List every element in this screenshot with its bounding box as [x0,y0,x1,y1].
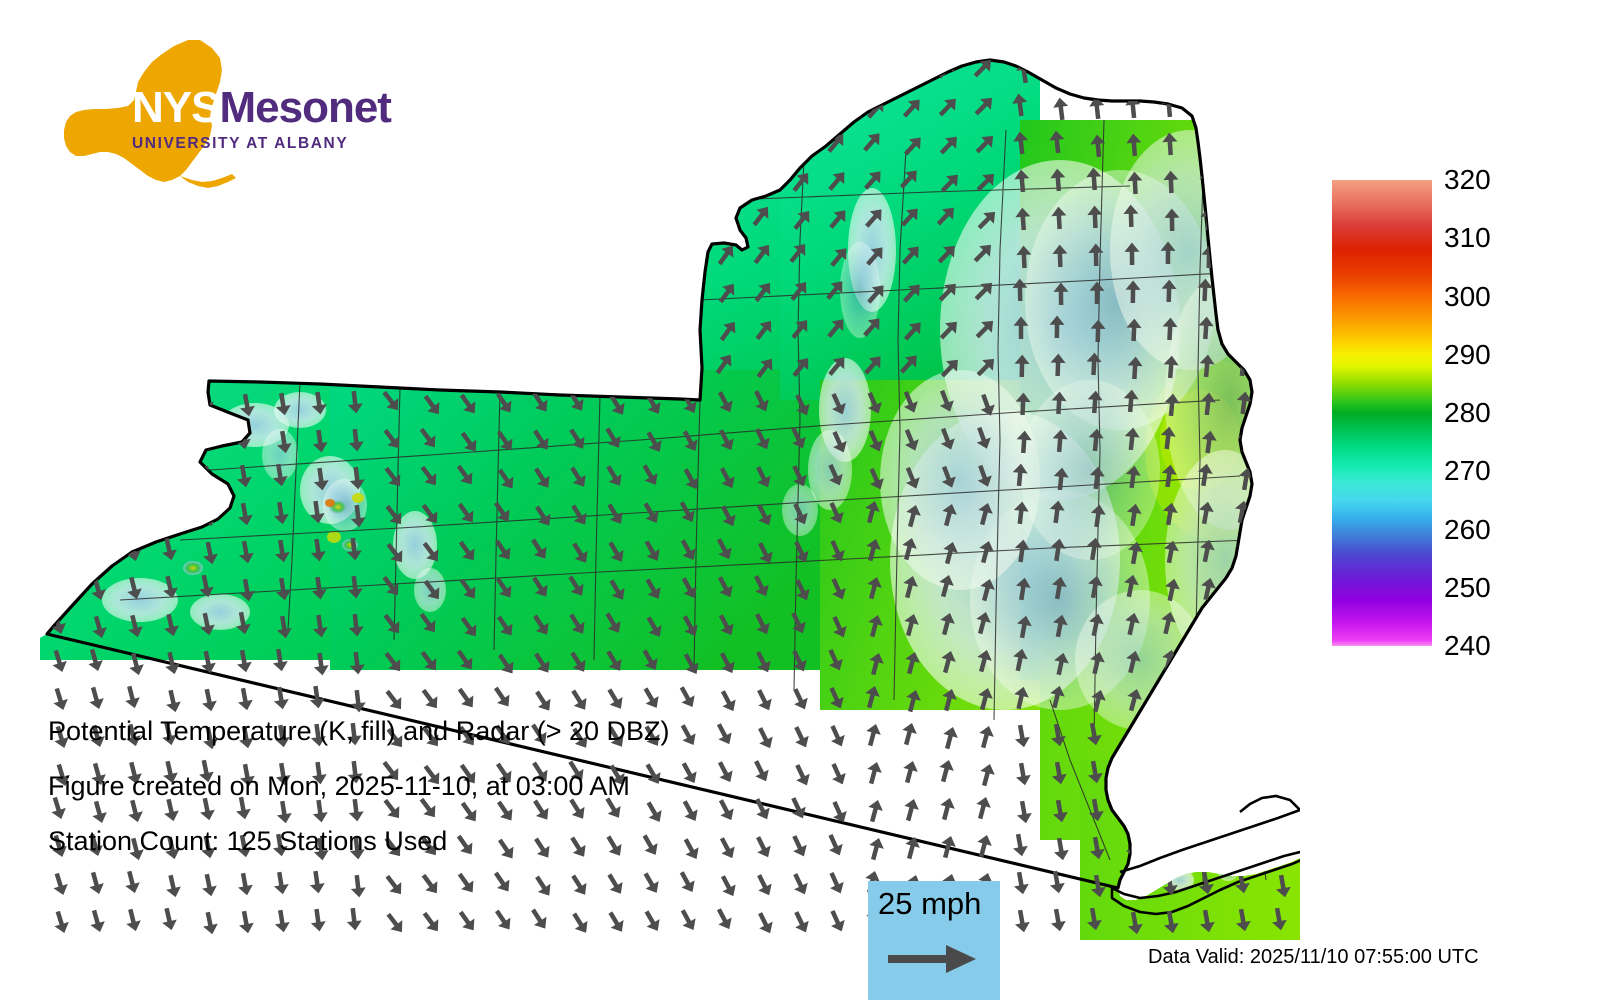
wind-arrow [602,93,626,120]
wind-arrow [1272,428,1290,453]
wind-arrow [196,204,215,229]
wind-arrow [1272,650,1293,676]
wind-arrow [1237,59,1254,83]
wind-arrow [568,355,593,382]
wind-arrow [457,59,482,86]
wind-arrow [124,390,144,415]
wind-speed-key: 25 mph [868,881,1000,1000]
wind-arrow [1237,837,1256,862]
wind-arrow [89,429,109,455]
logo-mesonet-text: Mesonet [219,83,390,132]
wind-arrow [271,278,289,303]
logo-subtitle: UNIVERSITY AT ALBANY [132,135,402,153]
colorbar-tick-labels: 320310300290280270260250240 [1444,180,1554,646]
wind-arrow [312,282,330,306]
wind-arrow [1234,130,1250,153]
wind-arrow [418,169,443,196]
wind-arrow [605,207,629,234]
wind-arrow [676,352,700,379]
wind-arrow [491,352,516,379]
wind-arrow [1269,536,1289,561]
wind-arrow [160,205,180,230]
wind-arrow [491,167,516,194]
wind-arrow [1200,60,1217,84]
wind-arrow [200,356,219,381]
wind-arrow [454,315,479,342]
wind-arrow [1236,206,1251,229]
wind-arrow [565,241,590,268]
wind-arrow [493,243,518,270]
wind-arrow [274,207,292,232]
wind-arrow [1123,797,1142,822]
wind-arrow [238,208,257,233]
wind-arrow [604,169,628,196]
wind-arrow [456,206,481,233]
wind-arrow [160,390,180,415]
wind-arrow [52,392,73,418]
wind-arrow [642,244,666,271]
wind-arrow [89,244,109,270]
wind-arrow [1270,352,1287,376]
wind-arrow [493,58,518,85]
colorbar-tick-280: 280 [1444,399,1491,427]
wind-arrow [566,279,591,306]
wind-arrow [1234,315,1251,339]
wind-arrow [50,316,71,342]
wind-arrow [85,462,105,488]
caption-title: Potential Temperature (K, fill) and Rada… [48,718,868,745]
wind-arrow [898,56,924,83]
colorbar-tick-250: 250 [1444,574,1491,602]
wind-arrow [603,131,627,158]
wind-arrow [455,168,480,195]
wind-arrow [1199,614,1219,639]
colorbar-tick-240: 240 [1444,632,1491,660]
colorbar-gradient [1332,180,1432,646]
wind-arrow [712,203,737,230]
wind-arrow [679,281,703,308]
colorbar-tick-260: 260 [1444,516,1491,544]
wind-arrow [675,129,699,156]
wind-arrow [1275,134,1291,157]
wind-arrow [236,317,255,342]
wind-arrow [1274,281,1290,304]
wind-arrow [455,353,480,380]
wind-arrow [529,57,554,84]
wind-arrow [348,281,365,305]
wind-arrow [275,245,293,270]
wind-arrow [1234,723,1253,748]
wind-arrow [379,241,405,268]
wind-arrow [52,577,73,603]
wind-arrow [1234,575,1254,600]
wind-arrow [531,133,556,160]
wind-arrow [349,319,366,343]
wind-arrow [679,96,703,123]
wind-arrow [529,242,554,269]
wind-arrow [750,93,776,120]
wind-arrow [751,131,777,158]
wind-arrow [1271,168,1286,190]
wind-arrow [48,425,69,451]
wind-arrow [48,240,69,266]
colorbar-tick-320: 320 [1444,166,1491,194]
wind-arrow [1275,319,1292,343]
wind-arrow [677,205,701,232]
wind-arrow [453,92,478,119]
wind-arrow [416,278,441,305]
wind-arrow [381,317,407,344]
wind-arrow [714,94,739,121]
wind-arrow [52,207,73,233]
wind-arrow [88,206,108,232]
wind-arrow [308,315,326,339]
wind-arrow [161,428,181,453]
wind-arrow [126,466,146,491]
wind-arrow [86,500,106,526]
wind-arrow [382,355,408,382]
caption-station-count: Station Count: 125 Stations Used [48,828,868,855]
wind-arrow [567,317,592,344]
wind-arrow [415,240,440,267]
wind-arrow [453,277,478,304]
wind-arrow [347,243,364,267]
wind-arrow [419,207,444,234]
wind-arrow [1123,57,1141,81]
wind-arrow [1271,612,1291,638]
wind-arrow [566,94,591,121]
wind-arrow [122,499,142,524]
wind-arrow [527,166,552,193]
wind-arrow [787,130,813,157]
wind-arrow [345,352,362,376]
wind-arrow [273,354,291,379]
wind-arrow [1087,58,1105,82]
data-valid-timestamp: Data Valid: 2025/11/10 07:55:00 UTC [1148,946,1479,969]
wind-arrow [639,130,663,157]
wind-arrow [311,244,329,268]
wind-arrow [1159,56,1176,80]
wind-arrow [310,206,328,230]
wind-arrow [418,354,443,381]
wind-arrow [530,95,555,122]
wind-arrow [124,205,144,230]
wind-arrow [162,281,182,306]
wind-arrow [822,91,848,118]
wind-arrow [749,55,775,82]
wind-arrow [785,54,811,81]
wind-arrow [126,281,146,306]
wind-arrow [1235,761,1254,786]
wind-arrow [638,92,662,119]
wind-arrow [415,55,440,82]
wind-arrow [346,205,363,229]
wind-arrow [125,428,145,453]
wind-arrow [678,58,702,85]
wind-arrow [122,314,142,339]
wind-arrow [237,355,256,380]
logo-nys-text: NYS [132,83,219,132]
wind-arrow [88,391,108,417]
wind-arrow [1238,97,1254,120]
wind-arrow [527,351,552,378]
wind-arrow [604,354,628,381]
wind-arrow [531,318,556,345]
wind-arrow [86,315,106,341]
wind-arrow [565,56,590,83]
wind-arrow [713,56,738,83]
wind-arrow [198,280,217,305]
wind-arrow [49,278,70,304]
wind-arrow [494,96,519,123]
wind-arrow [1272,205,1287,228]
wind-arrow [494,281,519,308]
wind-arrow [161,243,181,268]
wind-arrow [1271,760,1290,785]
wind-arrow [1271,390,1289,414]
wind-arrow [826,58,852,85]
wind-arrow [1236,651,1257,677]
wind-arrow [678,243,702,270]
wind-arrow [1232,684,1253,710]
wind-arrow [1238,282,1254,305]
wind-arrow [1199,762,1218,787]
wind-arrow [1198,724,1217,749]
wind-arrow [1237,244,1253,267]
caption-created: Figure created on Mon, 2025-11-10, at 03… [48,773,868,800]
wind-arrow [197,242,216,267]
wind-arrow [603,316,627,343]
wind-arrow [87,353,107,379]
wind-arrow [125,243,145,268]
wind-arrow [568,170,593,197]
wind-arrow [49,463,70,489]
wind-arrow-icon [884,939,984,979]
wind-arrow [457,244,482,271]
wind-arrow [1197,93,1214,116]
wind-arrow [50,501,71,527]
wind-arrow [380,279,406,306]
wind-arrow [1270,574,1290,599]
wind-arrow [159,352,179,377]
wind-arrow [490,314,515,341]
wind-arrow [602,278,626,305]
wind-arrow [528,204,553,231]
wind-arrow [199,318,218,343]
colorbar-tick-310: 310 [1444,224,1491,252]
wind-arrow [1273,465,1292,490]
wind-arrow [163,319,183,344]
wind-arrow [235,279,254,304]
wind-arrow [490,129,515,156]
caption-block: Potential Temperature (K, fill) and Rada… [48,718,868,883]
colorbar-tick-290: 290 [1444,341,1491,369]
wind-arrow [711,165,736,192]
wind-arrow [123,352,143,377]
wind-arrow [1273,58,1290,81]
wind-arrow [1270,722,1289,747]
wind-arrow [1273,243,1289,266]
wind-arrow [715,132,740,159]
wind-arrow [51,539,72,565]
wind-arrow [416,93,441,120]
wind-arrow [417,131,442,158]
wind-arrow [1235,613,1255,639]
wind-arrow [862,57,888,84]
wind-arrow [85,277,105,303]
wind-arrow [309,353,327,377]
wind-arrow [1122,759,1141,784]
wind-arrow [1272,688,1293,714]
colorbar-tick-300: 300 [1444,283,1491,311]
wind-arrow [162,466,182,491]
wind-arrow [601,55,625,82]
wind-arrow [638,277,662,304]
wind-arrow [640,353,664,380]
wind-arrow [641,206,665,233]
wind-arrow [378,203,404,230]
wind-arrow [417,316,442,343]
wind-arrow [1160,686,1181,712]
wind-arrow [1274,96,1290,119]
wind-arrow [601,240,625,267]
wind-arrow [272,316,290,341]
wind-arrow [234,241,253,266]
wind-arrow [642,59,666,86]
wind-arrow [1195,647,1215,673]
wind-arrow [1051,59,1069,83]
wind-arrow [51,354,72,380]
wind-arrow [454,130,479,157]
wind-arrow [1235,168,1250,191]
wind-arrow [492,205,517,232]
wind-arrow [786,92,812,119]
wind-key-label: 25 mph [878,887,981,921]
wind-arrow [675,314,699,341]
wind-arrow [1196,685,1217,711]
wind-arrow [640,168,664,195]
colorbar-tick-270: 270 [1444,457,1491,485]
wind-arrow [564,203,589,230]
wind-arrow [1163,763,1182,788]
wind-arrow [530,280,555,307]
wind-arrow [676,167,700,194]
wind-arrow [639,315,663,342]
nys-mesonet-logo: NYSMesonet UNIVERSITY AT ALBANY [52,36,402,196]
colorbar-legend: 320310300290280270260250240 [1332,180,1562,646]
wind-arrow [1162,725,1181,750]
wind-arrow [567,132,592,159]
wind-arrow [1273,503,1292,528]
wind-arrow [163,504,183,529]
wind-arrow [1159,796,1178,821]
wind-arrow [87,538,107,564]
wind-arrow [1200,800,1219,825]
